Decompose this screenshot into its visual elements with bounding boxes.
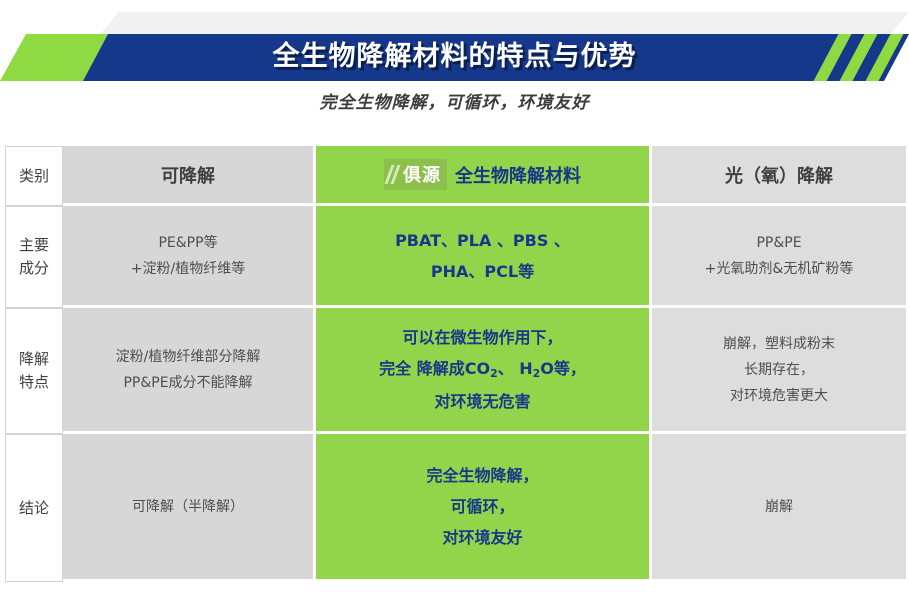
cell-line: 可以在微生物作用下， bbox=[316, 322, 649, 353]
cell-line: PBAT、PLA 、PBS 、 bbox=[316, 225, 649, 256]
cell-photo-oxy-composition: PP&PE +光氧助剂&无机矿粉等 bbox=[652, 206, 906, 308]
row-label-main-composition: 主要 成分 bbox=[5, 206, 63, 308]
page-subtitle: 完全生物降解，可循环，环境友好 bbox=[0, 88, 909, 113]
cell-line: PHA、PCL等 bbox=[316, 256, 649, 287]
formula-subscript: 2 bbox=[490, 367, 498, 380]
cell-photo-oxy-traits: 崩解，塑料成粉末 长期存在， 对环境危害更大 bbox=[652, 308, 906, 434]
cell-degradable-traits: 淀粉/植物纤维部分降解 PP&PE成分不能降解 bbox=[63, 308, 316, 434]
comparison-table-wrapper: 类别 可降解 俱源 全生物降解材料 bbox=[5, 146, 904, 604]
header-cell-biodegradable: 俱源 全生物降解材料 bbox=[316, 146, 652, 206]
header-banner: 全生物降解材料的特点与优势 完全生物降解，可循环，环境友好 bbox=[0, 0, 909, 126]
table-row: 降解 特点 淀粉/植物纤维部分降解 PP&PE成分不能降解 可以在微生物作用下，… bbox=[5, 308, 906, 434]
cell-line: 可降解（半降解） bbox=[63, 494, 313, 520]
table-header-row: 类别 可降解 俱源 全生物降解材料 bbox=[5, 146, 906, 206]
cell-line: 淀粉/植物纤维部分降解 bbox=[63, 344, 313, 370]
brand-lockup: 俱源 全生物降解材料 bbox=[316, 159, 649, 190]
row-label-line: 主要 bbox=[6, 234, 62, 257]
cell-line: +光氧助剂&无机矿粉等 bbox=[652, 256, 906, 282]
cell-biodegradable-traits: 可以在微生物作用下， 完全 降解成CO2、 H2O等， 对环境无危害 bbox=[316, 308, 652, 434]
cell-line: PP&PE成分不能降解 bbox=[63, 370, 313, 396]
cell-line: PP&PE bbox=[652, 230, 906, 256]
formula-prefix: 完全 降解成CO bbox=[379, 359, 490, 378]
cell-line: 对环境无危害 bbox=[316, 386, 649, 417]
brand-slashes-icon bbox=[387, 165, 400, 184]
row-label-conclusion: 结论 bbox=[5, 434, 63, 582]
cell-biodegradable-composition: PBAT、PLA 、PBS 、 PHA、PCL等 bbox=[316, 206, 652, 308]
comparison-table: 类别 可降解 俱源 全生物降解材料 bbox=[5, 146, 906, 582]
row-label-line: 降解 bbox=[6, 348, 62, 371]
row-label-line: 结论 bbox=[6, 497, 62, 520]
formula-suffix: O等， bbox=[540, 359, 586, 378]
cell-degradable-composition: PE&PP等 +淀粉/植物纤维等 bbox=[63, 206, 316, 308]
header-degradable-label: 可降解 bbox=[161, 166, 215, 187]
brand-name-text: 俱源 bbox=[403, 161, 441, 187]
cell-line: 对环境友好 bbox=[316, 522, 649, 553]
brand-logo: 俱源 bbox=[384, 159, 447, 190]
cell-line: PE&PP等 bbox=[63, 230, 313, 256]
header-cell-photo-oxy: 光（氧）降解 bbox=[652, 146, 906, 206]
brand-tagline-text: 全生物降解材料 bbox=[455, 162, 581, 188]
cell-biodegradable-conclusion: 完全生物降解， 可循环， 对环境友好 bbox=[316, 434, 652, 582]
row-label-degradation-traits: 降解 特点 bbox=[5, 308, 63, 434]
cell-photo-oxy-conclusion: 崩解 bbox=[652, 434, 906, 582]
cell-line: 长期存在， bbox=[652, 357, 906, 383]
header-photo-oxy-label: 光（氧）降解 bbox=[725, 166, 833, 187]
row-label-line: 成分 bbox=[6, 257, 62, 280]
page-title: 全生物降解材料的特点与优势 bbox=[0, 38, 909, 76]
formula-subscript: 2 bbox=[533, 367, 541, 380]
table-row: 主要 成分 PE&PP等 +淀粉/植物纤维等 PBAT、PLA 、PBS 、 P… bbox=[5, 206, 906, 308]
header-category-label: 类别 bbox=[19, 167, 49, 185]
cell-line: 可循环， bbox=[316, 491, 649, 522]
cell-degradable-conclusion: 可降解（半降解） bbox=[63, 434, 316, 582]
header-cell-degradable: 可降解 bbox=[63, 146, 316, 206]
header-cell-category: 类别 bbox=[5, 146, 63, 206]
cell-line: 对环境危害更大 bbox=[652, 383, 906, 409]
cell-line: +淀粉/植物纤维等 bbox=[63, 256, 313, 282]
cell-line: 崩解 bbox=[652, 494, 906, 520]
cell-line: 崩解，塑料成粉末 bbox=[652, 331, 906, 357]
formula-middle: 、 H bbox=[498, 359, 533, 378]
table-row: 结论 可降解（半降解） 完全生物降解， 可循环， 对环境友好 崩解 bbox=[5, 434, 906, 582]
cell-line-formula: 完全 降解成CO2、 H2O等， bbox=[316, 353, 649, 386]
row-label-line: 特点 bbox=[6, 371, 62, 394]
cell-line: 完全生物降解， bbox=[316, 460, 649, 491]
